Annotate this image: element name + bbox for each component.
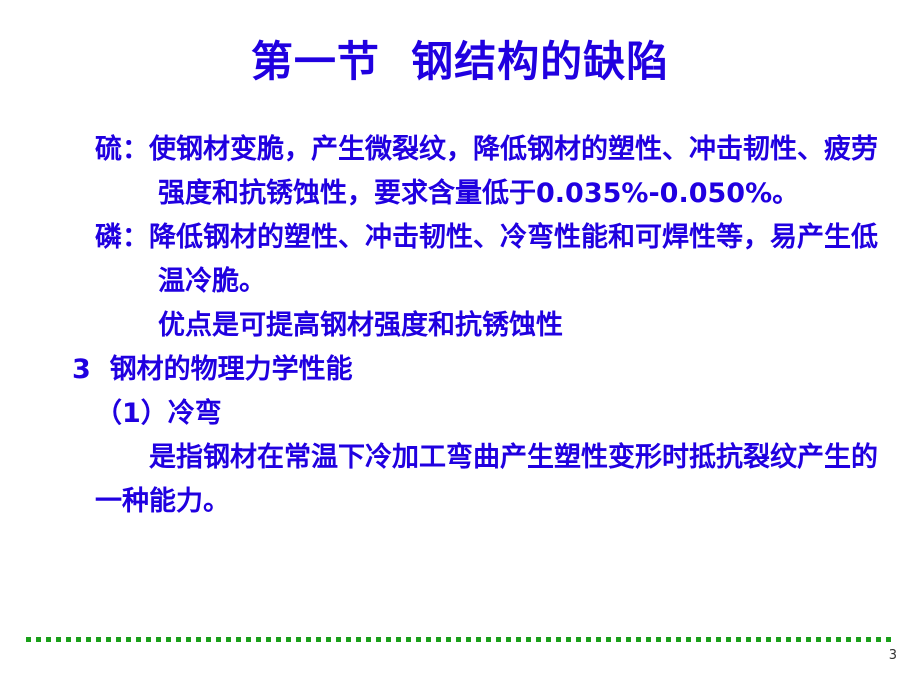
- paragraph-sulfur-text: 使钢材变脆，产生微裂纹，降低钢材的塑性、冲击韧性、疲劳强度和抗锈蚀性，要求含量低…: [149, 134, 878, 209]
- page-title: 第一节 钢结构的缺陷: [0, 38, 920, 86]
- footer-divider: [26, 637, 896, 642]
- paragraph-item-1: （1）冷弯: [95, 392, 880, 436]
- paragraph-sulfur-lead: 硫：: [95, 134, 149, 165]
- paragraph-cold-bend-definition: 是指钢材在常温下冷加工弯曲产生塑性变形时抵抗裂纹产生的一种能力。: [95, 436, 882, 524]
- paragraph-sulfur: 硫：使钢材变脆，产生微裂纹，降低钢材的塑性、冲击韧性、疲劳强度和抗锈蚀性，要求含…: [95, 128, 880, 216]
- paragraph-phosphorus-lead: 磷：: [95, 222, 149, 253]
- paragraph-section-3: 3 钢材的物理力学性能: [72, 348, 880, 392]
- paragraph-phosphorus: 磷：降低钢材的塑性、冲击韧性、冷弯性能和可焊性等，易产生低温冷脆。: [95, 216, 880, 304]
- paragraph-phosphorus-text: 降低钢材的塑性、冲击韧性、冷弯性能和可焊性等，易产生低温冷脆。: [149, 222, 878, 297]
- slide-body: 硫：使钢材变脆，产生微裂纹，降低钢材的塑性、冲击韧性、疲劳强度和抗锈蚀性，要求含…: [0, 128, 920, 524]
- page-number: 3: [889, 648, 897, 663]
- slide-canvas: 第一节 钢结构的缺陷 硫：使钢材变脆，产生微裂纹，降低钢材的塑性、冲击韧性、疲劳…: [0, 0, 920, 690]
- paragraph-advantage: 优点是可提高钢材强度和抗锈蚀性: [158, 304, 880, 348]
